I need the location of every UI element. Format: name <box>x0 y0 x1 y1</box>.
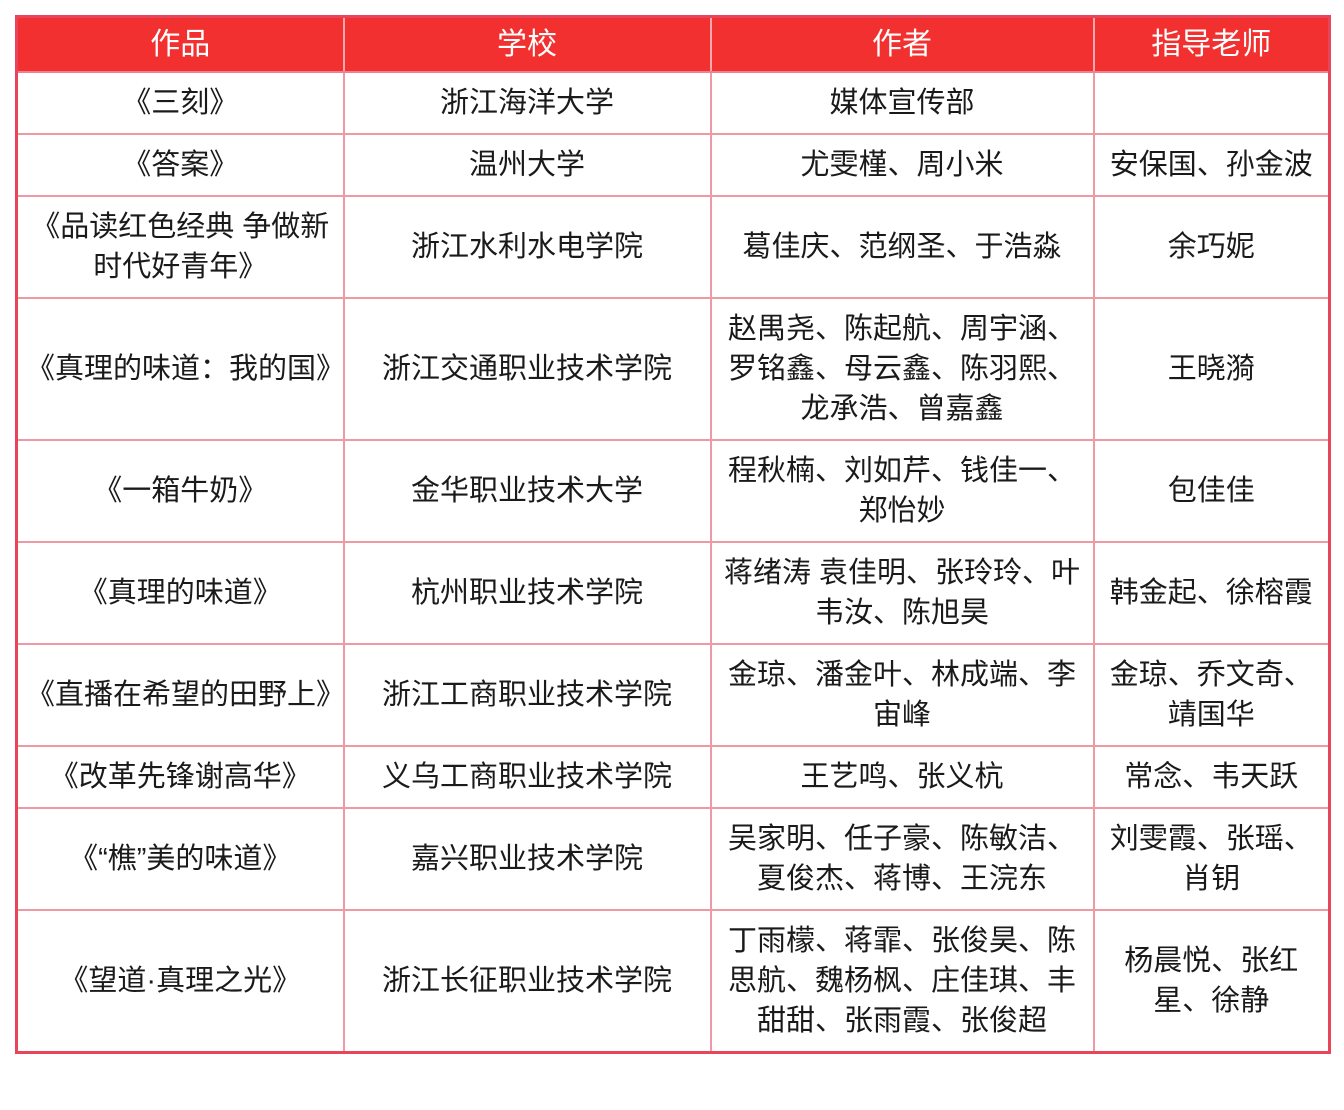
table-row: 《品读红色经典 争做新时代好青年》浙江水利水电学院葛佳庆、范纲圣、于浩淼余巧妮 <box>17 196 1330 298</box>
cell-mentor: 常念、韦天跃 <box>1094 746 1330 808</box>
cell-work: 《真理的味道：我的国》 <box>17 298 344 440</box>
cell-mentor: 王晓漪 <box>1094 298 1330 440</box>
cell-mentor: 金琼、乔文奇、靖国华 <box>1094 644 1330 746</box>
cell-author: 尤雯槿、周小米 <box>711 134 1094 196</box>
column-header-mentor: 指导老师 <box>1094 17 1330 73</box>
table-row: 《“樵”美的味道》嘉兴职业技术学院吴家明、任子豪、陈敏洁、夏俊杰、蒋博、王浣东刘… <box>17 808 1330 910</box>
cell-mentor: 包佳佳 <box>1094 440 1330 542</box>
cell-work: 《答案》 <box>17 134 344 196</box>
cell-mentor: 余巧妮 <box>1094 196 1330 298</box>
cell-school: 浙江交通职业技术学院 <box>344 298 711 440</box>
cell-author: 蒋绪涛 袁佳明、张玲玲、叶韦汝、陈旭昊 <box>711 542 1094 644</box>
cell-work: 《一箱牛奶》 <box>17 440 344 542</box>
cell-school: 温州大学 <box>344 134 711 196</box>
cell-author: 吴家明、任子豪、陈敏洁、夏俊杰、蒋博、王浣东 <box>711 808 1094 910</box>
cell-work: 《“樵”美的味道》 <box>17 808 344 910</box>
cell-school: 嘉兴职业技术学院 <box>344 808 711 910</box>
table-row: 《望道·真理之光》浙江长征职业技术学院丁雨檬、蒋霏、张俊昊、陈思航、魏杨枫、庄佳… <box>17 910 1330 1053</box>
cell-author: 金琼、潘金叶、林成端、李宙峰 <box>711 644 1094 746</box>
cell-mentor: 韩金起、徐榕霞 <box>1094 542 1330 644</box>
cell-school: 浙江水利水电学院 <box>344 196 711 298</box>
cell-work: 《望道·真理之光》 <box>17 910 344 1053</box>
cell-school: 浙江海洋大学 <box>344 72 711 134</box>
cell-mentor: 安保国、孙金波 <box>1094 134 1330 196</box>
cell-school: 浙江工商职业技术学院 <box>344 644 711 746</box>
cell-mentor: 杨晨悦、张红星、徐静 <box>1094 910 1330 1053</box>
header-row: 作品 学校 作者 指导老师 <box>17 17 1330 73</box>
cell-work: 《真理的味道》 <box>17 542 344 644</box>
table-row: 《真理的味道：我的国》浙江交通职业技术学院赵禺尧、陈起航、周宇涵、罗铭鑫、母云鑫… <box>17 298 1330 440</box>
award-table-container: 作品 学校 作者 指导老师 《三刻》浙江海洋大学媒体宣传部《答案》温州大学尤雯槿… <box>15 15 1328 1054</box>
table-row: 《一箱牛奶》金华职业技术大学程秋楠、刘如芹、钱佳一、郑怡妙包佳佳 <box>17 440 1330 542</box>
cell-school: 浙江长征职业技术学院 <box>344 910 711 1053</box>
cell-author: 王艺鸣、张义杭 <box>711 746 1094 808</box>
table-header: 作品 学校 作者 指导老师 <box>17 17 1330 73</box>
cell-author: 赵禺尧、陈起航、周宇涵、罗铭鑫、母云鑫、陈羽熙、龙承浩、曾嘉鑫 <box>711 298 1094 440</box>
cell-author: 媒体宣传部 <box>711 72 1094 134</box>
cell-author: 程秋楠、刘如芹、钱佳一、郑怡妙 <box>711 440 1094 542</box>
cell-mentor <box>1094 72 1330 134</box>
cell-work: 《改革先锋谢高华》 <box>17 746 344 808</box>
table-row: 《直播在希望的田野上》浙江工商职业技术学院金琼、潘金叶、林成端、李宙峰金琼、乔文… <box>17 644 1330 746</box>
cell-work: 《品读红色经典 争做新时代好青年》 <box>17 196 344 298</box>
cell-author: 丁雨檬、蒋霏、张俊昊、陈思航、魏杨枫、庄佳琪、丰甜甜、张雨霞、张俊超 <box>711 910 1094 1053</box>
cell-school: 金华职业技术大学 <box>344 440 711 542</box>
table-row: 《三刻》浙江海洋大学媒体宣传部 <box>17 72 1330 134</box>
table-row: 《答案》温州大学尤雯槿、周小米安保国、孙金波 <box>17 134 1330 196</box>
cell-school: 杭州职业技术学院 <box>344 542 711 644</box>
cell-work: 《直播在希望的田野上》 <box>17 644 344 746</box>
column-header-school: 学校 <box>344 17 711 73</box>
award-table: 作品 学校 作者 指导老师 《三刻》浙江海洋大学媒体宣传部《答案》温州大学尤雯槿… <box>15 15 1331 1054</box>
table-body: 《三刻》浙江海洋大学媒体宣传部《答案》温州大学尤雯槿、周小米安保国、孙金波《品读… <box>17 72 1330 1053</box>
column-header-author: 作者 <box>711 17 1094 73</box>
cell-school: 义乌工商职业技术学院 <box>344 746 711 808</box>
cell-work: 《三刻》 <box>17 72 344 134</box>
table-row: 《改革先锋谢高华》义乌工商职业技术学院王艺鸣、张义杭常念、韦天跃 <box>17 746 1330 808</box>
column-header-work: 作品 <box>17 17 344 73</box>
cell-author: 葛佳庆、范纲圣、于浩淼 <box>711 196 1094 298</box>
cell-mentor: 刘雯霞、张瑶、肖钥 <box>1094 808 1330 910</box>
table-row: 《真理的味道》杭州职业技术学院蒋绪涛 袁佳明、张玲玲、叶韦汝、陈旭昊韩金起、徐榕… <box>17 542 1330 644</box>
